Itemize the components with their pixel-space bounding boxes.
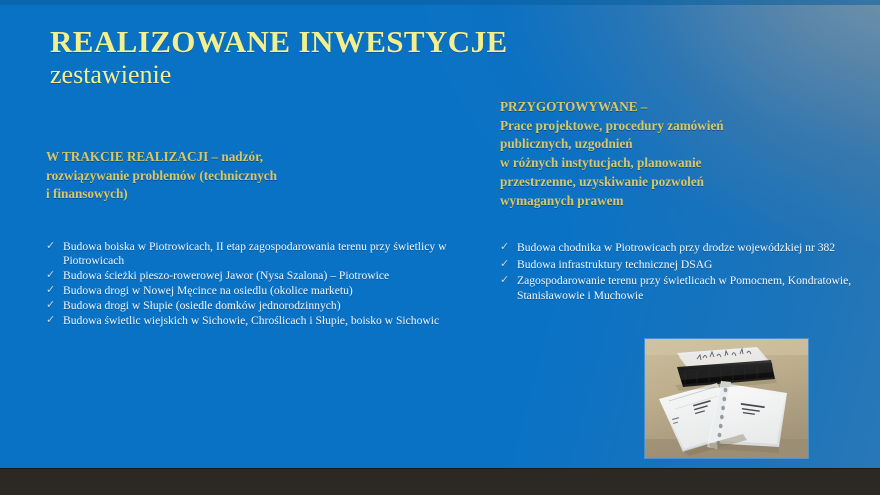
check-icon: ✓ (46, 240, 55, 254)
left-column-heading-block: W TRAKCIE REALIZACJI – nadzór, rozwiązyw… (46, 148, 456, 204)
slide-title-block: REALIZOWANE INWESTYCJE zestawienie (50, 26, 610, 89)
right-investment-list: ✓ Budowa chodnika w Piotrowicach przy dr… (500, 240, 860, 305)
list-item-text: Budowa infrastruktury technicznej DSAG (517, 258, 712, 271)
list-item-text: Budowa chodnika w Piotrowicach przy drod… (517, 241, 835, 254)
list-item-text: Budowa ścieżki pieszo-rowerowej Jawor (N… (63, 269, 389, 282)
top-accent-band (0, 0, 880, 5)
slide-title-subtitle: zestawienie (50, 60, 610, 89)
presentation-slide: REALIZOWANE INWESTYCJE zestawienie W TRA… (0, 0, 880, 495)
left-heading-line-1: W TRAKCIE REALIZACJI – nadzór, (46, 148, 456, 167)
slide-title-main: REALIZOWANE INWESTYCJE (50, 26, 610, 58)
list-item-text: Budowa drogi w Nowej Męcince na osiedlu … (63, 284, 353, 297)
check-icon: ✓ (46, 314, 55, 328)
list-item-text: Budowa boiska w Piotrowicach, II etap za… (63, 240, 446, 267)
right-heading-line-5: przestrzenne, uzyskiwanie pozwoleń (500, 173, 870, 192)
left-heading-line-3: i finansowych) (46, 185, 456, 204)
list-item: ✓ Budowa ścieżki pieszo-rowerowej Jawor … (46, 269, 454, 283)
left-section-heading: W TRAKCIE REALIZACJI – nadzór, rozwiązyw… (46, 148, 456, 204)
check-icon: ✓ (500, 257, 509, 271)
left-heading-line-2: rozwiązywanie problemów (technicznych (46, 167, 456, 186)
list-item-text: Budowa drogi w Słupie (osiedle domków je… (63, 299, 341, 312)
check-icon: ✓ (500, 273, 509, 287)
right-heading-line-3: publicznych, uzgodnień (500, 135, 870, 154)
documents-photo (645, 339, 808, 458)
right-heading-line-6: wymaganych prawem (500, 192, 870, 211)
left-investment-list: ✓ Budowa boiska w Piotrowicach, II etap … (46, 240, 454, 329)
list-item: ✓ Budowa świetlic wiejskich w Sichowie, … (46, 314, 454, 328)
check-icon: ✓ (46, 299, 55, 313)
slide-footer-band (0, 468, 880, 495)
right-section-heading: PRZYGOTOWYWANE – Prace projektowe, proce… (500, 98, 870, 210)
check-icon: ✓ (46, 269, 55, 283)
right-heading-line-1: PRZYGOTOWYWANE – (500, 98, 870, 117)
list-item: ✓ Budowa drogi w Nowej Męcince na osiedl… (46, 284, 454, 298)
documents-photo-graphic (645, 339, 808, 458)
right-column-heading-block: PRZYGOTOWYWANE – Prace projektowe, proce… (500, 98, 870, 210)
list-item-text: Zagospodarowanie terenu przy świetlicach… (517, 274, 851, 302)
list-item: ✓ Zagospodarowanie terenu przy świetlica… (500, 273, 860, 303)
list-item: ✓ Budowa boiska w Piotrowicach, II etap … (46, 240, 454, 269)
list-item: ✓ Budowa drogi w Słupie (osiedle domków … (46, 299, 454, 313)
list-item-text: Budowa świetlic wiejskich w Sichowie, Ch… (63, 314, 439, 327)
check-icon: ✓ (46, 284, 55, 298)
right-heading-line-2: Prace projektowe, procedury zamówień (500, 117, 870, 136)
check-icon: ✓ (500, 240, 509, 254)
right-heading-line-4: w różnych instytucjach, planowanie (500, 154, 870, 173)
list-item: ✓ Budowa chodnika w Piotrowicach przy dr… (500, 240, 860, 255)
list-item: ✓ Budowa infrastruktury technicznej DSAG (500, 257, 860, 272)
